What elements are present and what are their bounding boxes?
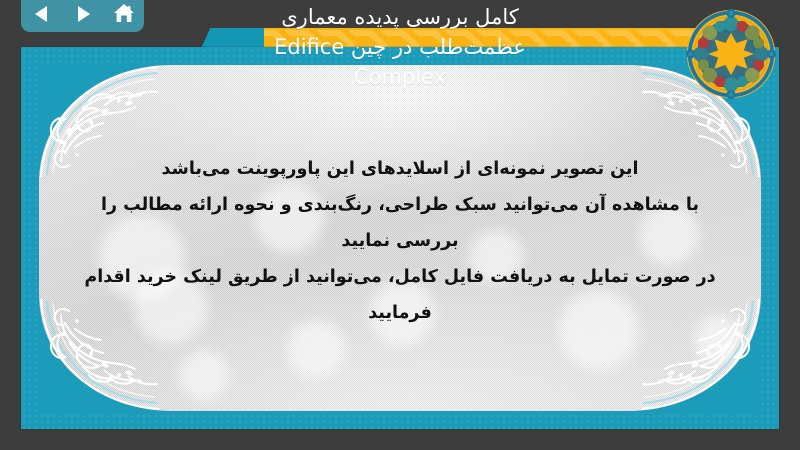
slide-content-area: این تصویر نمونه‌ای از اسلایدهای این پاور…: [39, 65, 761, 411]
triangle-right-icon: [72, 3, 94, 25]
home-button[interactable]: [109, 0, 139, 28]
previous-slide-button[interactable]: [27, 0, 57, 28]
home-icon: [112, 3, 136, 25]
next-slide-button[interactable]: [68, 0, 98, 28]
navigation-bar: [21, 0, 144, 32]
persian-medallion-ornament-icon: [685, 8, 777, 100]
slide-body-text: این تصویر نمونه‌ای از اسلایدهای این پاور…: [79, 151, 721, 331]
body-line-1: این تصویر نمونه‌ای از اسلایدهای این پاور…: [79, 151, 721, 187]
body-line-2: با مشاهده آن می‌توانید سبک طراحی، رنگ‌بن…: [79, 187, 721, 259]
slide-frame: این تصویر نمونه‌ای از اسلایدهای این پاور…: [21, 47, 779, 429]
body-line-3: در صورت تمایل به دریافت فایل کامل، می‌تو…: [79, 259, 721, 331]
triangle-left-icon: [31, 3, 53, 25]
bokeh-circle: [179, 350, 229, 400]
slide-viewer: کامل بررسی پدیده معماری عظمت‌طلب در چین …: [0, 0, 800, 450]
